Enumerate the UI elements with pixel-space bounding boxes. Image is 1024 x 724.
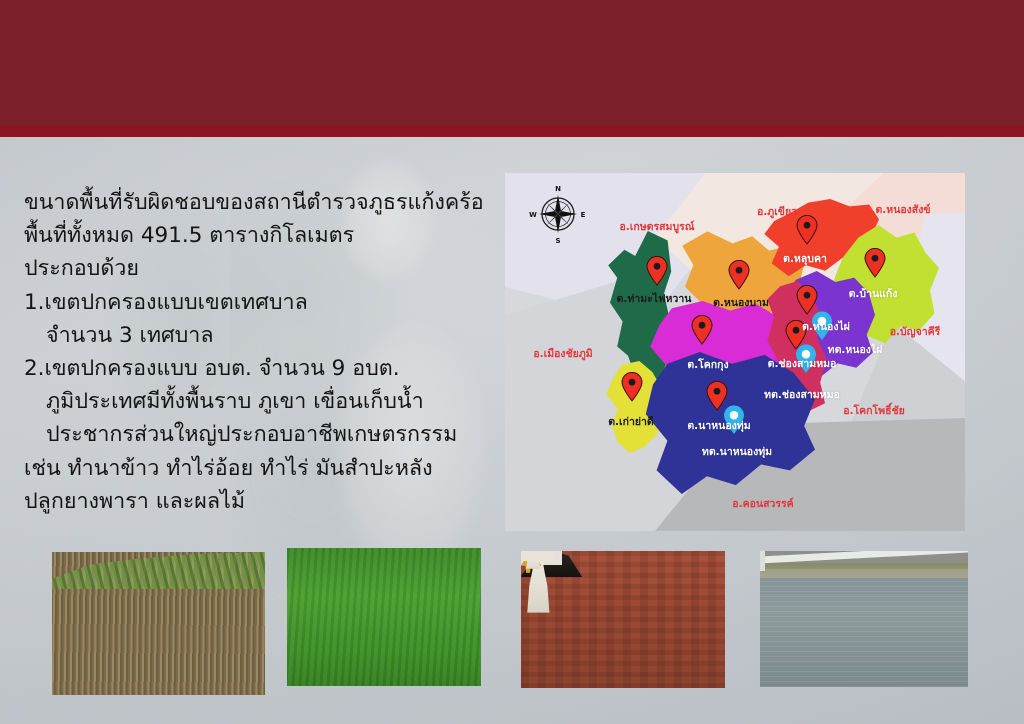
sugarcane-field-photo[interactable] [52, 552, 265, 695]
map-neighbor-label: ต.หนองสังข์ [875, 201, 930, 218]
map-marker-tambon[interactable] [646, 256, 668, 286]
map-marker-tambon[interactable] [621, 372, 643, 402]
compass-rose-icon: N E S W [527, 183, 589, 245]
jurisdiction-map[interactable]: อ.เกษตรสมบูรณ์ อ.ภูเขียว ต.หนองสังข์ อ.เ… [505, 173, 965, 531]
info-line: ประชากรส่วนใหญ่ประกอบอาชีพเกษตรกรรม [24, 418, 494, 451]
map-region-label: ทต.นาหนองทุ่ม [702, 443, 772, 460]
map-neighbor-label: อ.เกษตรสมบูรณ์ [620, 218, 695, 235]
map-marker-tambon[interactable] [691, 315, 713, 345]
info-line: ปลูกยางพารา และผลไม้ [24, 485, 494, 518]
rice-paddy-mountain-photo[interactable] [287, 548, 481, 686]
info-line: ประกอบด้วย [24, 252, 494, 285]
map-region-label: ต.บ้านแก้ง [849, 285, 898, 302]
map-region-label: ต.นาหนองทุ่ม [687, 417, 750, 434]
map-neighbor-label: อ.โคกโพธิ์ชัย [843, 402, 905, 419]
info-line: 1.เขตปกครองแบบเขตเทศบาล [24, 286, 494, 319]
temple-stupa-photo[interactable] [521, 551, 725, 688]
info-line: ขนาดพื้นที่รับผิดชอบของสถานีตำรวจภูธรแก้… [24, 186, 494, 219]
map-marker-tambon[interactable] [864, 248, 886, 278]
info-line: เช่น ทำนาข้าว ทำไร่อ้อย ทำไร่ มันสำปะหลั… [24, 452, 494, 485]
svg-text:S: S [555, 237, 560, 245]
map-region-label: ต.ช่องสามหมอ [768, 355, 837, 372]
info-line: พื้นที่ทั้งหมด 491.5 ตารางกิโลเมตร [24, 219, 494, 252]
info-line: จำนวน 3 เทศบาล [24, 319, 494, 352]
map-neighbor-label: อ.บัญจาคีรี [890, 323, 941, 340]
map-neighbor-label: อ.คอนสวรรค์ [732, 495, 793, 512]
map-neighbor-label: อ.ภูเขียว [757, 203, 797, 220]
page-header [0, 0, 1024, 137]
info-text-block: ขนาดพื้นที่รับผิดชอบของสถานีตำรวจภูธรแก้… [24, 186, 494, 518]
svg-text:N: N [555, 185, 561, 193]
reservoir-dam-photo[interactable] [760, 551, 968, 687]
map-region-label: ต.เก่าย่าดี [608, 413, 654, 430]
svg-text:E: E [581, 211, 586, 219]
info-line: 2.เขตปกครองแบบ อบต. จำนวน 9 อบต. [24, 352, 494, 385]
map-region-label: ต.หลุบคา [783, 250, 827, 267]
map-marker-tambon[interactable] [728, 260, 750, 290]
header-accent-rule [0, 126, 1024, 137]
svg-text:W: W [529, 211, 537, 219]
map-neighbor-label: อ.เมืองชัยภูมิ [533, 345, 592, 362]
map-region-label: ต.หนองไผ่ [802, 318, 850, 335]
info-line: ภูมิประเทศมีทั้งพื้นราบ ภูเขา เขื่อนเก็บ… [24, 385, 494, 418]
map-region-label: ต.ท่ามะไฟหวาน [617, 290, 692, 307]
map-region-label: ต.โคกกุง [687, 356, 728, 373]
map-region-label: ต.หนองบาม [713, 294, 769, 311]
map-region-label: ทต.ช่องสามหมอ [764, 386, 840, 403]
map-marker-tambon[interactable] [796, 215, 818, 245]
poster-root: ✶ ✶ ✶ KAENGKHRO POLICE STATION สถานีตำรว… [0, 0, 1024, 724]
